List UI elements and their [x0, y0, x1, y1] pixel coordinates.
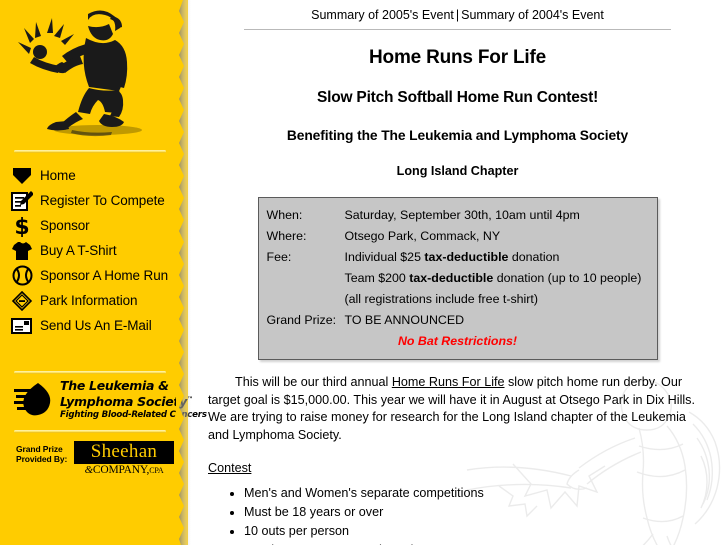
- ampersand: &: [85, 464, 93, 476]
- sidebar-item-park-information[interactable]: Park Information: [0, 288, 188, 313]
- sponsor-caption-line-2: Provided By:: [16, 454, 74, 464]
- info-label: [267, 268, 345, 289]
- clipboard-form-icon: [9, 190, 35, 212]
- info-value-bold: tax-deductible: [424, 250, 508, 264]
- sidebar: Home Register To Compete: [0, 0, 188, 545]
- lls-line-2-wrap: Lymphoma Society™: [60, 393, 180, 409]
- intro-paragraph-text: This will be our third annual Home Runs …: [208, 374, 703, 444]
- dollar-sign-icon: $: [9, 215, 35, 237]
- list-item: Must be 18 years or over: [244, 504, 727, 523]
- sidebar-item-buy-a-t-shirt[interactable]: Buy A T-Shirt: [0, 238, 188, 263]
- grand-prize-sponsor-block: Grand Prize Provided By: Sheehan &COMPAN…: [16, 441, 176, 477]
- link-summary-2004[interactable]: Summary of 2004's Event: [461, 8, 604, 22]
- info-value-pre: Team $200: [345, 271, 410, 285]
- info-label: Fee:: [267, 247, 345, 268]
- lls-droplet-icon: [14, 381, 54, 425]
- info-value-post: donation: [508, 250, 559, 264]
- t-shirt-icon: [9, 240, 35, 262]
- envelope-icon: [9, 315, 35, 337]
- info-value-text: TO BE ANNOUNCED: [345, 313, 465, 327]
- sheehan-subline: &COMPANY,CPA: [74, 464, 174, 477]
- info-label: Grand Prize:: [267, 310, 345, 331]
- link-summary-2005[interactable]: Summary of 2005's Event: [311, 8, 454, 22]
- info-value: Team $200 tax-deductible donation (up to…: [345, 268, 649, 289]
- top-summary-links: Summary of 2005's Event|Summary of 2004'…: [188, 0, 727, 22]
- info-label: [267, 289, 345, 310]
- softball-icon: [9, 265, 35, 287]
- company-word: COMPANY: [93, 464, 147, 476]
- header-divider: [244, 29, 671, 30]
- intro-part-1: This will be our third annual: [235, 375, 392, 389]
- info-value-text: (all registrations include free t-shirt): [345, 292, 539, 306]
- lls-tagline: Fighting Blood-Related Cancers: [60, 410, 180, 420]
- info-value: (all registrations include free t-shirt): [345, 289, 649, 310]
- compass-icon: [9, 290, 35, 312]
- info-row-tshirt-note: (all registrations include free t-shirt): [267, 289, 649, 310]
- sidebar-item-home[interactable]: Home: [0, 163, 188, 188]
- page-root: Home Register To Compete: [0, 0, 727, 545]
- info-value-text: Otsego Park, Commack, NY: [345, 229, 501, 243]
- contest-heading: Contest: [208, 461, 251, 475]
- sponsor-caption-line-1: Grand Prize: [16, 444, 74, 454]
- info-value-pre: Individual $25: [345, 250, 425, 264]
- main-inner: Summary of 2005's Event|Summary of 2004'…: [188, 0, 727, 545]
- sheehan-name-box: Sheehan: [74, 441, 174, 464]
- svg-text:$: $: [14, 215, 29, 237]
- sponsor-caption: Grand Prize Provided By:: [16, 441, 74, 464]
- info-value: Otsego Park, Commack, NY: [345, 226, 649, 247]
- info-value: Individual $25 tax-deductible donation: [345, 247, 649, 268]
- sidebar-item-label: Register To Compete: [35, 193, 165, 208]
- list-item: 10 outs per person: [244, 523, 727, 542]
- lls-trademark: ™: [187, 396, 193, 403]
- info-value: TO BE ANNOUNCED: [345, 310, 649, 331]
- sheehan-company-logo[interactable]: Sheehan &COMPANY,CPA: [74, 441, 174, 477]
- intro-paragraph: This will be our third annual Home Runs …: [208, 374, 703, 444]
- cpa-word: CPA: [149, 466, 163, 475]
- main-content: Summary of 2005's Event|Summary of 2004'…: [188, 0, 727, 545]
- page-subtitle: Slow Pitch Softball Home Run Contest!: [188, 89, 727, 107]
- sidebar-item-label: Home: [35, 168, 76, 183]
- event-details-box: When: Saturday, September 30th, 10am unt…: [258, 197, 658, 360]
- info-row-fee-team: Team $200 tax-deductible donation (up to…: [267, 268, 649, 289]
- sidebar-item-sponsor[interactable]: $ Sponsor: [0, 213, 188, 238]
- sidebar-item-register-to-compete[interactable]: Register To Compete: [0, 188, 188, 213]
- contest-rules-list: Men's and Women's separate competitions …: [188, 485, 727, 545]
- sidebar-divider-top: [14, 150, 166, 153]
- info-value-text: Saturday, September 30th, 10am until 4pm: [345, 208, 580, 222]
- benefiting-line: Benefiting the The Leukemia and Lymphoma…: [188, 128, 727, 143]
- info-row-grand-prize: Grand Prize: TO BE ANNOUNCED: [267, 310, 649, 331]
- lls-line-2: Lymphoma Society: [60, 394, 187, 409]
- info-label: Where:: [267, 226, 345, 247]
- sidebar-item-send-us-an-e-mail[interactable]: Send Us An E-Mail: [0, 313, 188, 338]
- sidebar-item-label: Buy A T-Shirt: [35, 243, 117, 258]
- info-value-post: donation (up to 10 people): [493, 271, 641, 285]
- sidebar-item-label: Sponsor: [35, 218, 90, 233]
- sidebar-item-label: Send Us An E-Mail: [35, 318, 152, 333]
- sponsor-row: Grand Prize Provided By: Sheehan &COMPAN…: [16, 441, 176, 477]
- contest-heading-wrap: Contest: [188, 444, 727, 477]
- info-row-fee: Fee: Individual $25 tax-deductible donat…: [267, 247, 649, 268]
- no-bat-restrictions-alert: No Bat Restrictions!: [267, 331, 649, 351]
- sidebar-item-sponsor-a-home-run[interactable]: Sponsor A Home Run: [0, 263, 188, 288]
- sidebar-nav: Home Register To Compete: [0, 163, 188, 338]
- link-home-runs-for-life[interactable]: Home Runs For Life: [392, 375, 505, 389]
- sidebar-divider-middle: [14, 371, 166, 374]
- leukemia-lymphoma-society-logo[interactable]: The Leukemia & Lymphoma Society™ Fightin…: [14, 379, 176, 427]
- lls-line-1: The Leukemia &: [60, 379, 180, 393]
- info-label: When:: [267, 205, 345, 226]
- list-item: Men's and Women's separate competitions: [244, 485, 727, 504]
- page-title: Home Runs For Life: [188, 47, 727, 69]
- info-value: Saturday, September 30th, 10am until 4pm: [345, 205, 649, 226]
- sidebar-divider-bottom: [14, 430, 166, 433]
- sidebar-item-label: Sponsor A Home Run: [35, 268, 168, 283]
- batter-illustration-icon: [16, 4, 168, 144]
- info-row-where: Where: Otsego Park, Commack, NY: [267, 226, 649, 247]
- sheehan-name: Sheehan: [91, 441, 157, 462]
- sidebar-item-label: Park Information: [35, 293, 137, 308]
- info-value-bold: tax-deductible: [409, 271, 493, 285]
- info-row-when: When: Saturday, September 30th, 10am unt…: [267, 205, 649, 226]
- chapter-line: Long Island Chapter: [188, 164, 727, 178]
- home-plate-icon: [9, 165, 35, 187]
